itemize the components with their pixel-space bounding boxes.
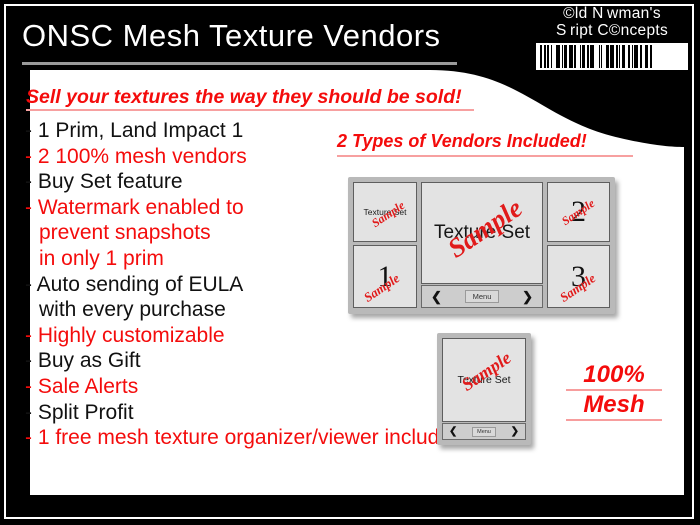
feature-item: - Sale Alerts xyxy=(25,374,345,400)
main-panel-label: Texture Set xyxy=(434,222,530,244)
logo-line-1: ©ld N wman's xyxy=(536,6,688,22)
menu-button[interactable]: Menu xyxy=(472,427,496,437)
product-poster: ONSC Mesh Texture Vendors ©ld N wman's S… xyxy=(0,0,700,525)
main-texture-panel[interactable]: Texture Set Sample xyxy=(421,182,543,284)
thumb-texture-set[interactable]: Texture Set Sample xyxy=(353,182,417,242)
thumb-label: 3 xyxy=(571,262,586,292)
feature-item: - 2 100% mesh vendors xyxy=(25,144,345,170)
thumb-label: 2 xyxy=(571,197,586,227)
mesh-badge-rule-bottom xyxy=(566,419,662,421)
main-panel-label: Texture Set xyxy=(457,374,510,386)
feature-item: - Auto sending of EULA xyxy=(25,272,345,298)
mesh-badge: 100% Mesh xyxy=(566,362,662,422)
page-title: ONSC Mesh Texture Vendors xyxy=(22,18,441,54)
feature-item: - 1 free mesh texture organizer/viewer i… xyxy=(25,425,345,451)
feature-item: prevent snapshots xyxy=(25,220,345,246)
thumb-3[interactable]: 3 Sample xyxy=(547,245,610,308)
feature-item: - Watermark enabled to xyxy=(25,195,345,221)
thumb-2[interactable]: 2 Sample xyxy=(547,182,610,242)
next-arrow-icon[interactable]: ❯ xyxy=(517,290,538,303)
mesh-badge-top: 100% xyxy=(566,362,662,388)
feature-item: - 1 Prim, Land Impact 1 xyxy=(25,118,345,144)
tagline: Sell your textures the way they should b… xyxy=(26,86,462,109)
vendors-subheading-underline xyxy=(337,155,633,157)
feature-list: - 1 Prim, Land Impact 1 - 2 100% mesh ve… xyxy=(25,118,345,451)
tagline-underline xyxy=(26,109,474,111)
next-arrow-icon[interactable]: ❯ xyxy=(508,427,522,437)
thumb-label: 1 xyxy=(378,262,393,292)
prev-arrow-icon[interactable]: ❮ xyxy=(446,427,460,437)
thumb-1[interactable]: 1 Sample xyxy=(353,245,417,308)
mesh-badge-bottom: Mesh xyxy=(566,392,662,418)
wide-vendor-mockup[interactable]: Texture Set Sample 1 Sample Texture Set … xyxy=(348,177,615,314)
feature-item: - Split Profit xyxy=(25,400,345,426)
watermark: Sample xyxy=(458,347,515,395)
barcode xyxy=(536,43,688,70)
menu-button[interactable]: Menu xyxy=(465,290,500,303)
vendor-navbar[interactable]: ❮ Menu ❯ xyxy=(421,285,543,308)
small-vendor-navbar[interactable]: ❮ Menu ❯ xyxy=(442,423,526,440)
thumb-label: Texture Set xyxy=(364,207,407,217)
feature-item: - Buy Set feature xyxy=(25,169,345,195)
logo-line-2: S ript C©ncepts xyxy=(536,23,688,39)
brand-logo: ©ld N wman's S ript C©ncepts xyxy=(536,6,688,70)
small-main-texture-panel[interactable]: Texture Set Sample xyxy=(442,338,526,422)
prev-arrow-icon[interactable]: ❮ xyxy=(426,290,447,303)
feature-item: in only 1 prim xyxy=(25,246,345,272)
feature-item: with every purchase xyxy=(25,297,345,323)
feature-item: - Highly customizable xyxy=(25,323,345,349)
feature-item: - Buy as Gift xyxy=(25,348,345,374)
title-underline xyxy=(22,62,457,65)
small-vendor-mockup[interactable]: Texture Set Sample ❮ Menu ❯ xyxy=(437,333,531,445)
vendors-subheading: 2 Types of Vendors Included! xyxy=(337,131,587,152)
